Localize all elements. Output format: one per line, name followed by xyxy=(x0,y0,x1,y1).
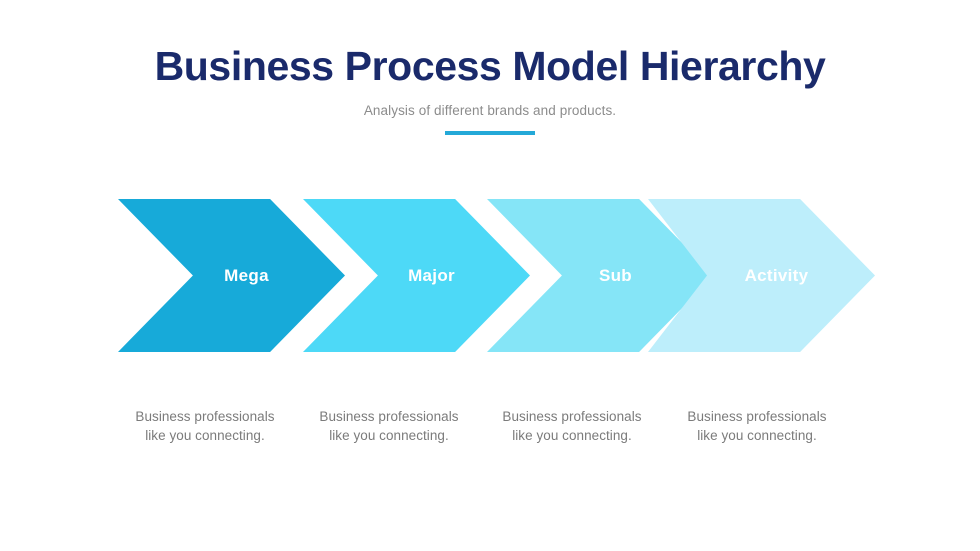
caption-line-2: like you connecting. xyxy=(329,428,449,443)
caption-line-1: Business professionals xyxy=(502,409,641,424)
slide-header: Business Process Model Hierarchy Analysi… xyxy=(0,40,980,121)
slide-canvas: Business Process Model Hierarchy Analysi… xyxy=(0,0,980,551)
caption-line-2: like you connecting. xyxy=(697,428,817,443)
chevron-stage-label: Sub xyxy=(599,266,632,286)
page-title: Business Process Model Hierarchy xyxy=(0,40,980,92)
chevron-process-diagram: Mega Major Sub Activity xyxy=(0,199,980,352)
caption-line-1: Business professionals xyxy=(135,409,274,424)
caption-row: Business professionals like you connecti… xyxy=(0,408,980,468)
stage-caption: Business professionals like you connecti… xyxy=(467,408,677,445)
caption-line-1: Business professionals xyxy=(687,409,826,424)
chevron-stage-label: Mega xyxy=(224,266,269,286)
caption-line-2: like you connecting. xyxy=(145,428,265,443)
chevron-stage-label: Activity xyxy=(745,266,809,286)
stage-caption: Business professionals like you connecti… xyxy=(100,408,310,445)
chevron-stage-mega[interactable]: Mega xyxy=(118,199,345,352)
accent-divider xyxy=(445,131,535,135)
stage-caption: Business professionals like you connecti… xyxy=(652,408,862,445)
page-subtitle: Analysis of different brands and product… xyxy=(0,92,980,121)
caption-line-2: like you connecting. xyxy=(512,428,632,443)
stage-caption: Business professionals like you connecti… xyxy=(284,408,494,445)
chevron-stage-label: Major xyxy=(408,266,455,286)
caption-line-1: Business professionals xyxy=(319,409,458,424)
